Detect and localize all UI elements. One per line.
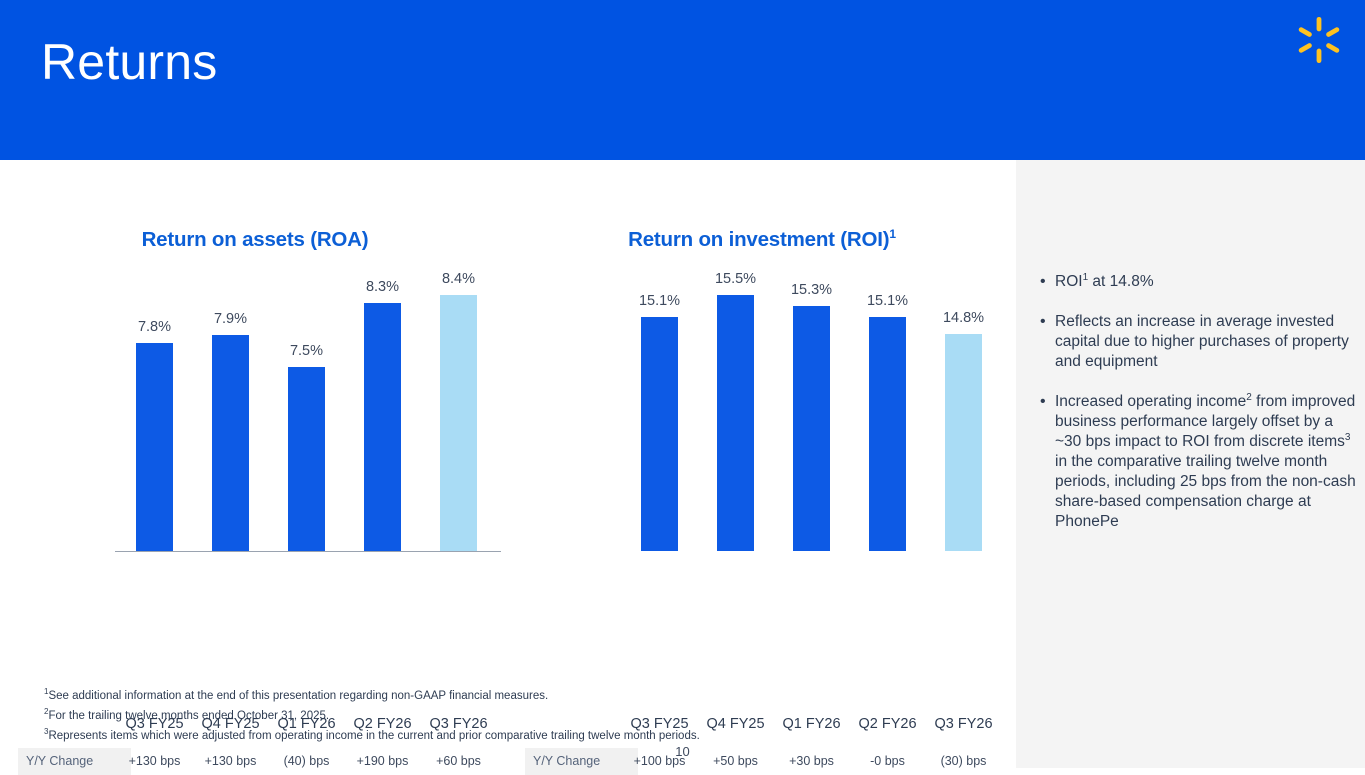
bar-value-label: 7.9% bbox=[196, 311, 266, 327]
chart-title-roi-text: Return on investment (ROI) bbox=[628, 228, 889, 251]
commentary-bullet: •Reflects an increase in average investe… bbox=[1040, 312, 1358, 372]
bar-q4-fy25 bbox=[717, 295, 754, 551]
chart-title-roa: Return on assets (ROA) bbox=[0, 228, 510, 252]
bar-q3-fy25 bbox=[641, 317, 678, 551]
bar-value-label: 8.3% bbox=[348, 279, 418, 295]
axis-line-roi bbox=[117, 551, 501, 552]
chart-title-roi-superscript: 1 bbox=[889, 227, 895, 241]
page-number: 10 bbox=[0, 744, 1365, 759]
bar-value-label: 15.1% bbox=[853, 293, 923, 309]
commentary-bullet: •Increased operating income2 from improv… bbox=[1040, 392, 1358, 532]
charts-container: Return on assets (ROA) Return on investm… bbox=[0, 160, 1016, 768]
commentary-bullet-list: •ROI1 at 14.8%•Reflects an increase in a… bbox=[1040, 272, 1358, 552]
bar-q2-fy26 bbox=[869, 317, 906, 551]
footnote: 3Represents items which were adjusted fr… bbox=[44, 726, 944, 746]
bar-value-label: 15.3% bbox=[777, 282, 847, 298]
chart-title-roi: Return on investment (ROI)1 bbox=[508, 228, 1016, 252]
bullet-dot-icon: • bbox=[1040, 312, 1055, 372]
commentary-bullet-text: ROI1 at 14.8% bbox=[1055, 272, 1358, 292]
bar-value-label: 7.5% bbox=[272, 343, 342, 359]
bar-value-label: 14.8% bbox=[929, 310, 999, 326]
bar-q1-fy26 bbox=[288, 367, 325, 551]
bar-q1-fy26 bbox=[793, 306, 830, 551]
bullet-dot-icon: • bbox=[1040, 392, 1055, 532]
bar-q3-fy26 bbox=[945, 334, 982, 551]
bar-q3-fy25 bbox=[136, 343, 173, 551]
commentary-panel: •ROI1 at 14.8%•Reflects an increase in a… bbox=[1016, 160, 1365, 768]
footnotes: 1See additional information at the end o… bbox=[44, 686, 944, 746]
commentary-bullet: •ROI1 at 14.8% bbox=[1040, 272, 1358, 292]
bar-value-label: 15.1% bbox=[625, 293, 695, 309]
bar-q2-fy26 bbox=[364, 303, 401, 551]
bar-value-label: 7.8% bbox=[120, 319, 190, 335]
slide-header: Returns bbox=[0, 0, 1365, 160]
bar-value-label: 15.5% bbox=[701, 271, 771, 287]
footnote: 1See additional information at the end o… bbox=[44, 686, 944, 706]
commentary-bullet-text: Reflects an increase in average invested… bbox=[1055, 312, 1358, 372]
footnote: 2For the trailing twelve months ended Oc… bbox=[44, 706, 944, 726]
bar-value-label: 8.4% bbox=[424, 271, 494, 287]
walmart-spark-logo bbox=[1295, 16, 1343, 64]
page-title: Returns bbox=[41, 31, 217, 93]
bar-q4-fy25 bbox=[212, 335, 249, 551]
bullet-dot-icon: • bbox=[1040, 272, 1055, 292]
bar-q3-fy26 bbox=[440, 295, 477, 551]
chart-title-roa-text: Return on assets (ROA) bbox=[142, 228, 369, 251]
commentary-bullet-text: Increased operating income2 from improve… bbox=[1055, 392, 1358, 532]
